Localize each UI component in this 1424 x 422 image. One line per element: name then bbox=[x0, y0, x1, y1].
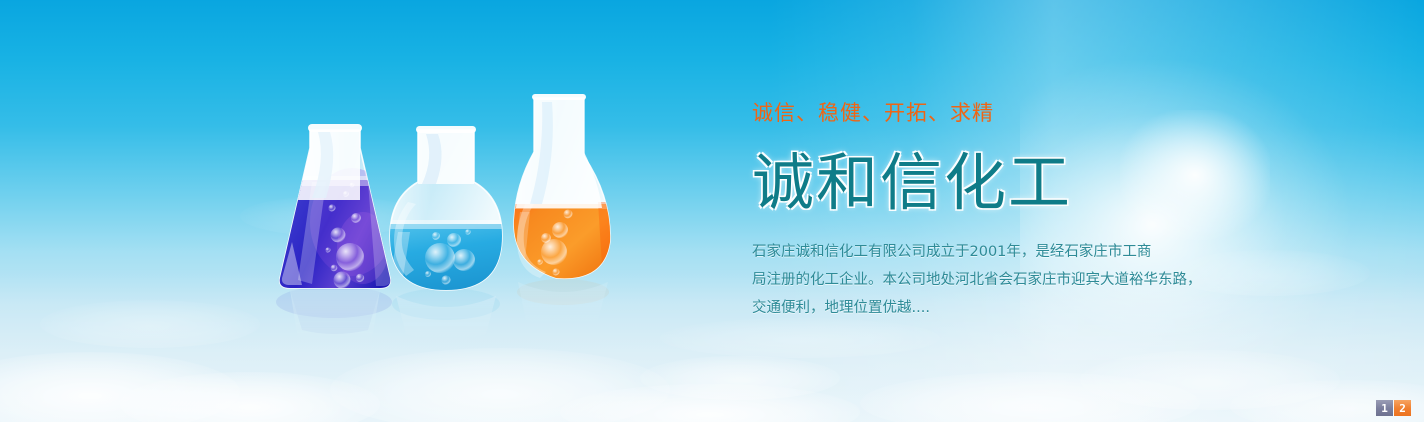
round-bottom-flask bbox=[378, 126, 518, 302]
description-line: 石家庄诚和信化工有限公司成立于2001年，是经石家庄市工商 bbox=[752, 238, 1272, 266]
pagination-dot-2[interactable]: 2 bbox=[1394, 400, 1411, 416]
description-line: 局注册的化工企业。本公司地处河北省会石家庄市迎宾大道裕华东路， bbox=[752, 266, 1272, 294]
erlenmeyer-flask bbox=[268, 124, 408, 302]
chemistry-flasks-illustration bbox=[268, 52, 638, 352]
page-title: 诚和信化工 bbox=[752, 150, 1272, 216]
banner-text-block: 诚信、稳健、开拓、求精 诚和信化工 石家庄诚和信化工有限公司成立于2001年，是… bbox=[752, 100, 1272, 322]
hero-banner: 诚信、稳健、开拓、求精 诚和信化工 石家庄诚和信化工有限公司成立于2001年，是… bbox=[0, 0, 1424, 422]
description-line: 交通便利，地理位置优越.... bbox=[752, 294, 1272, 322]
pagination-dot-1[interactable]: 1 bbox=[1376, 400, 1393, 416]
pear-shaped-flask bbox=[506, 94, 620, 292]
tagline: 诚信、稳健、开拓、求精 bbox=[752, 100, 1272, 126]
flasks-svg bbox=[268, 52, 638, 352]
carousel-pagination[interactable]: 1 2 bbox=[1376, 400, 1411, 416]
company-description: 石家庄诚和信化工有限公司成立于2001年，是经石家庄市工商 局注册的化工企业。本… bbox=[752, 238, 1272, 322]
